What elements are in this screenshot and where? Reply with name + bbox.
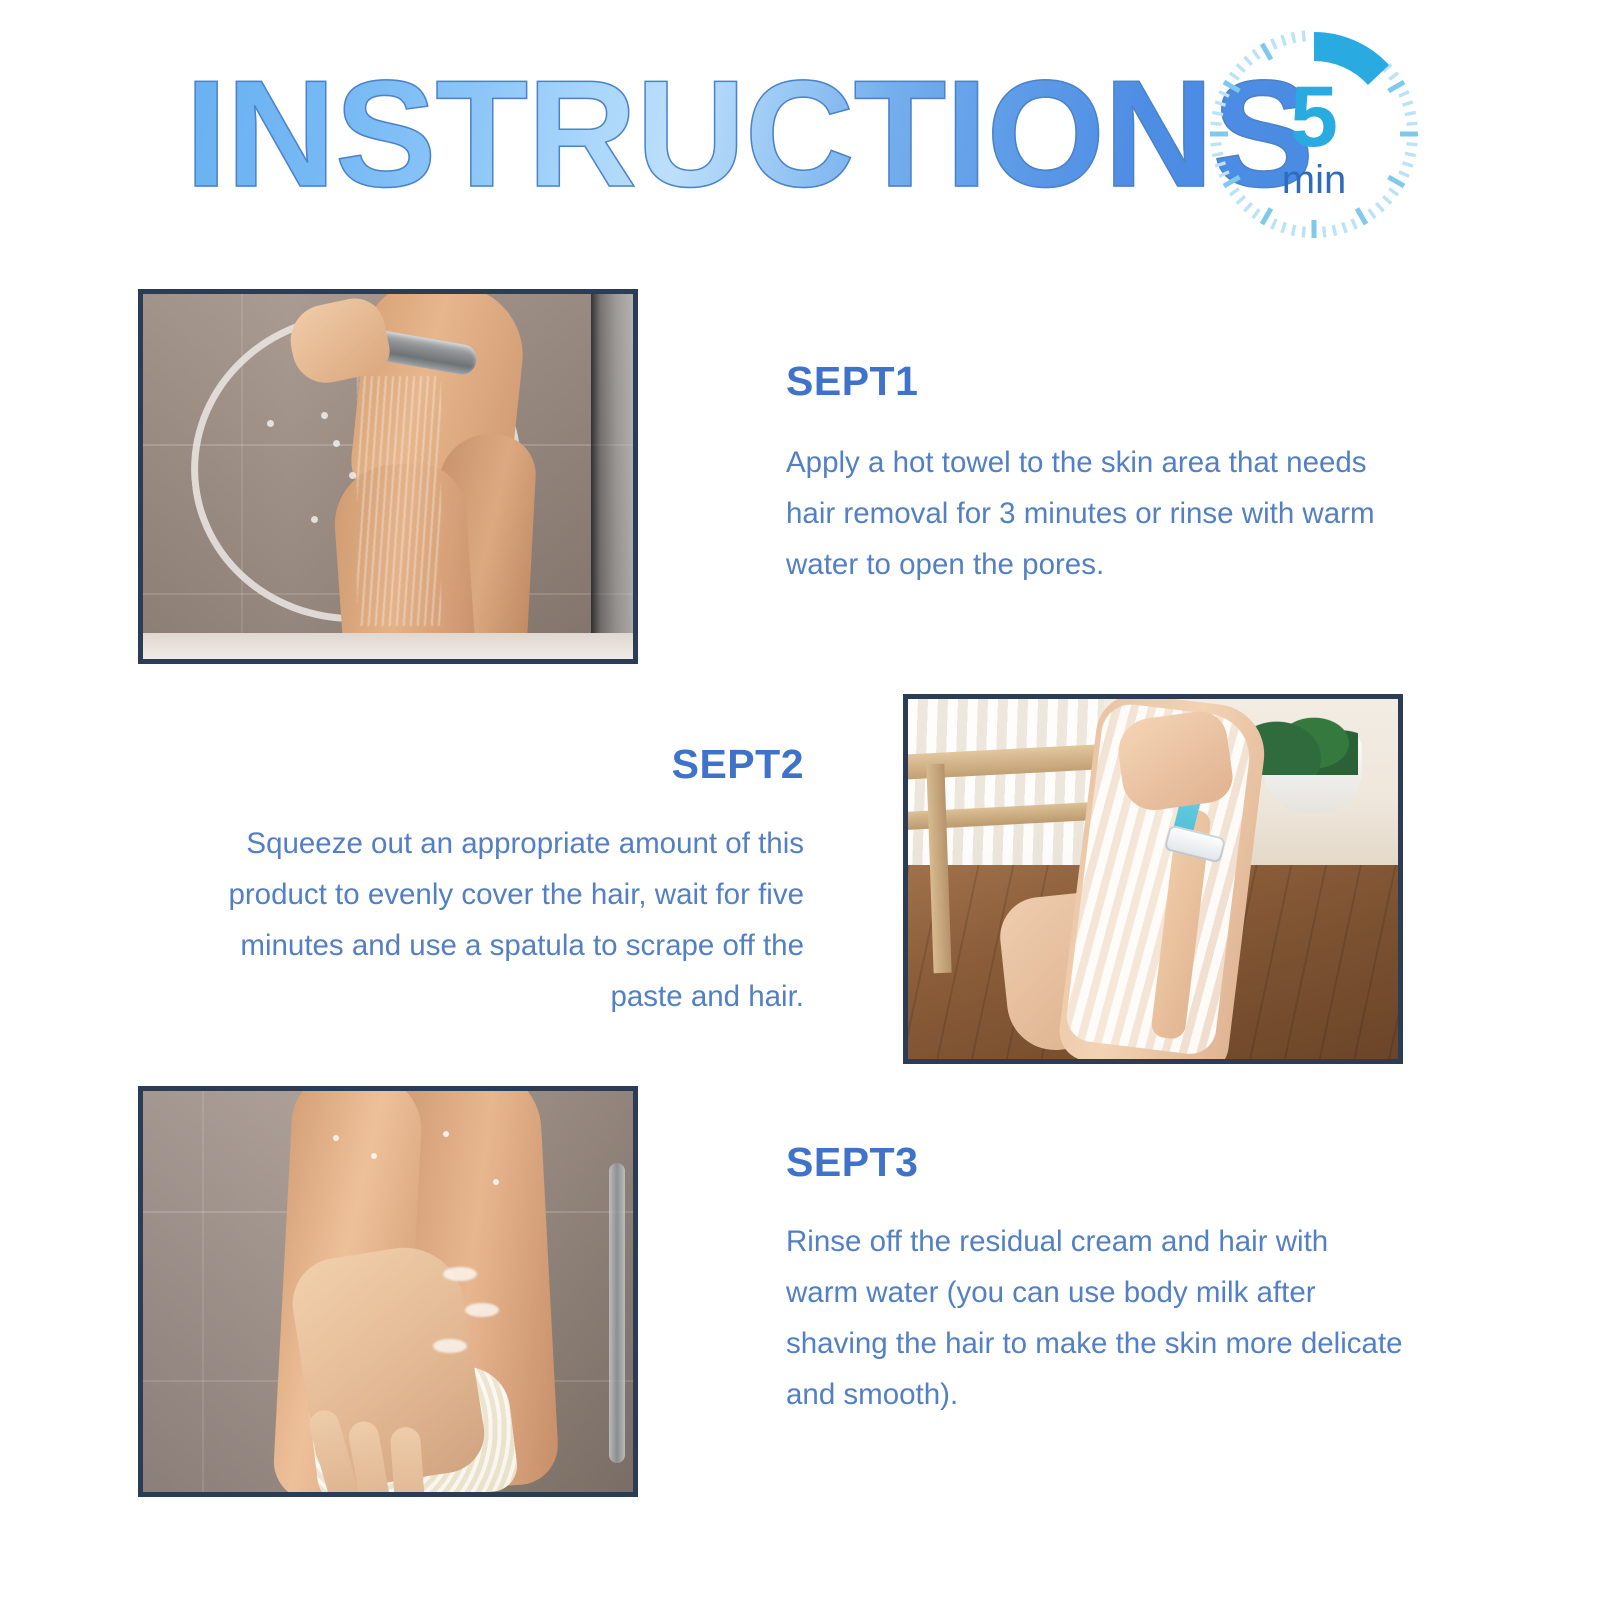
water-drop <box>349 472 356 479</box>
water-drop <box>333 440 340 447</box>
step-1-photo <box>138 289 638 664</box>
step-3-heading: SEPT3 <box>786 1138 1406 1186</box>
step-3-photo <box>138 1086 638 1497</box>
tile-grout-line <box>202 1091 204 1492</box>
foam-patch <box>465 1303 499 1317</box>
step-2-body: Squeeze out an appropriate amount of thi… <box>186 818 804 1022</box>
hand <box>1114 708 1236 814</box>
water-drop <box>371 1153 377 1159</box>
water-spray <box>357 376 441 626</box>
step-3-body: Rinse off the residual cream and hair wi… <box>786 1216 1406 1420</box>
step-2-text-block: SEPT2 Squeeze out an appropriate amount … <box>186 740 804 1022</box>
water-drop <box>333 1135 339 1141</box>
step-3-text-block: SEPT3 Rinse off the residual cream and h… <box>786 1138 1406 1420</box>
water-drop <box>443 1131 449 1137</box>
step-2-photo <box>903 694 1403 1064</box>
page-title-text: INSTRUCTIONS <box>185 62 1313 207</box>
step-1-text-block: SEPT1 Apply a hot towel to the skin area… <box>786 357 1404 590</box>
instructions-infographic: INSTRUCTIONS 5 min <box>0 0 1600 1600</box>
timer-value: 5 <box>1198 74 1430 160</box>
step-1-body: Apply a hot towel to the skin area that … <box>786 437 1404 590</box>
water-drop <box>311 516 318 523</box>
foam-patch <box>433 1339 467 1353</box>
water-drop <box>493 1179 499 1185</box>
water-drop <box>267 420 274 427</box>
shower-floor <box>143 633 633 659</box>
page-title: INSTRUCTIONS <box>185 62 1195 207</box>
water-drop <box>321 412 328 419</box>
step-2-heading: SEPT2 <box>186 740 804 788</box>
stopwatch-dial-icon: 5 min <box>1198 18 1430 250</box>
shower-glass-edge <box>591 294 633 659</box>
timer-unit: min <box>1198 160 1430 200</box>
shower-pipe <box>609 1163 625 1463</box>
step-1-heading: SEPT1 <box>786 357 1404 405</box>
foam-patch <box>443 1267 477 1281</box>
